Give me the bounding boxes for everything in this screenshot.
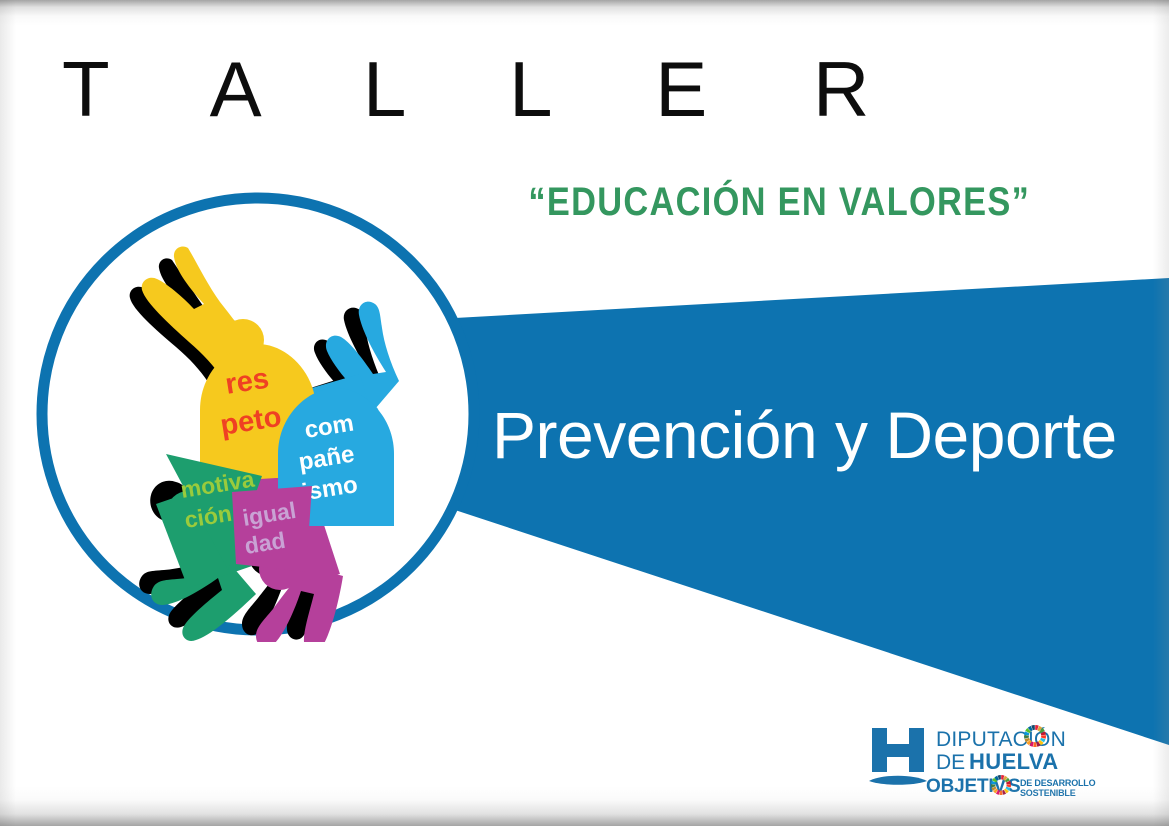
huelva-arc-icon: [869, 776, 927, 785]
huelva-h-mark: [869, 728, 927, 785]
logo-line-desarrollo: DE DESARROLLO: [1020, 778, 1096, 788]
educacion-en-valores-emblem: res peto com pañe rismo motiva ción igua…: [30, 186, 486, 642]
top-edge-shadow: [0, 0, 1169, 26]
left-edge-shadow: [0, 0, 16, 826]
value-label-respeto-line1: res: [223, 362, 271, 400]
logo-line-diputacion: DIPUTACIÓN: [936, 728, 1066, 751]
right-edge-shadow: [1153, 0, 1169, 826]
logo-line-huelva: HUELVA: [969, 749, 1059, 774]
logo-line-sostenible: SOSTENIBLE: [1020, 788, 1076, 798]
poster-canvas: T A L L E R “EDUCACIÓN EN VALORES” Preve…: [0, 0, 1169, 826]
banner-program-title: Prevención y Deporte: [492, 402, 1117, 468]
page-title: T A L L E R: [62, 50, 911, 128]
logo-line-de: DE: [936, 751, 965, 774]
diputacion-de-huelva-logo[interactable]: DIPUTACIÓN DE HUELVA OBJETIV S DE DESARR…: [868, 722, 1096, 798]
poster-subtitle: “EDUCACIÓN EN VALORES”: [523, 180, 1036, 224]
emblem-value-igualdad: igual dad: [232, 486, 312, 572]
